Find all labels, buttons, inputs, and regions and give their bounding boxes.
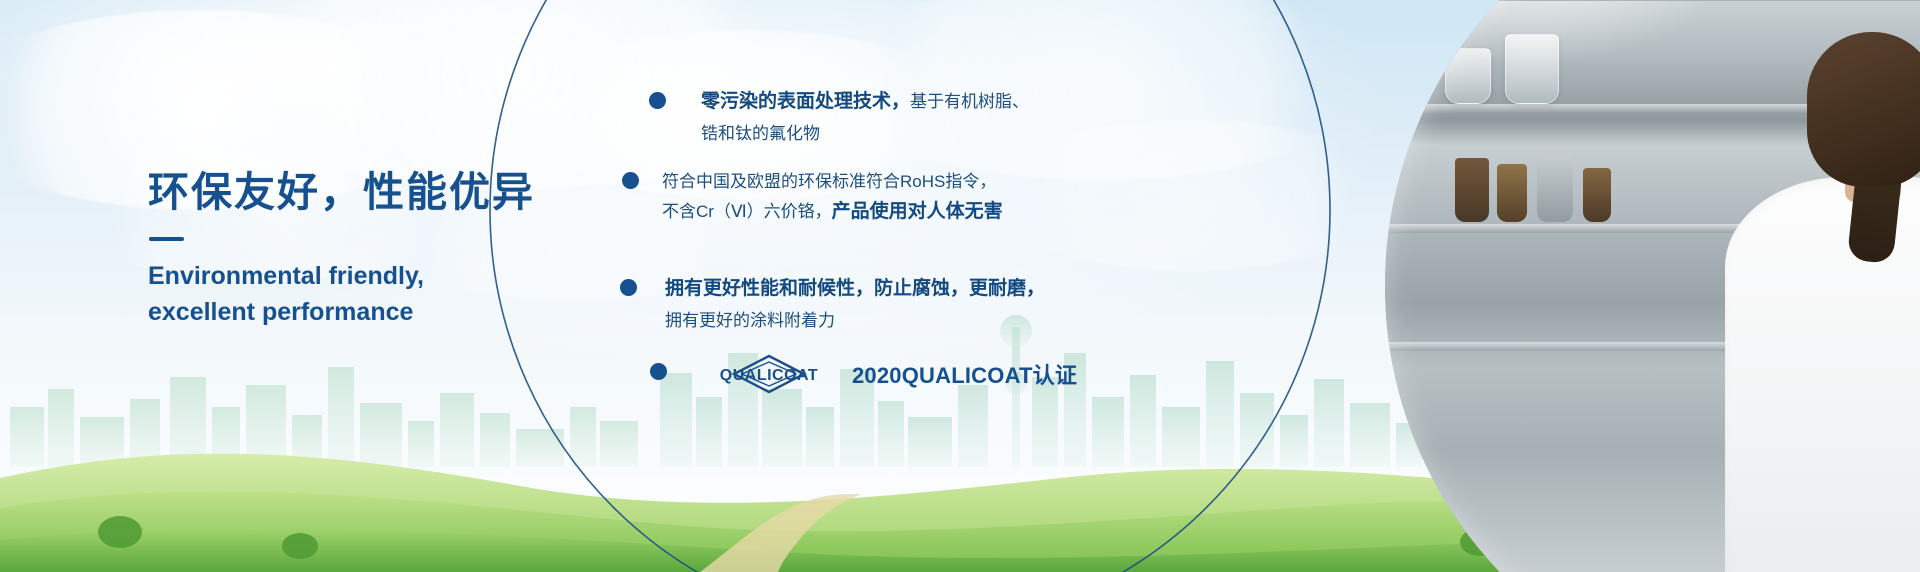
page-title: 环保友好，性能优异 [148,158,535,218]
foreground-blur [1385,450,1920,572]
title-divider [149,237,184,241]
bullet-dot-3 [620,279,637,296]
laboratory-photo [1385,0,1920,572]
feature-item-2: 符合中国及欧盟的环保标准符合RoHS指令， 不含Cr（Ⅵ）六价铬，产品使用对人体… [662,167,1062,229]
feature-item-1: 零污染的表面处理技术，基于有机树脂、 锆和钛的氟化物 [701,86,1081,148]
feature-3-bold: 拥有更好性能和耐候性，防止腐蚀，更耐磨， [665,273,1085,306]
reagent-bottle [1537,154,1573,222]
feature-3-line-2: 拥有更好的涂料附着力 [665,306,1085,335]
bullet-dot-4 [650,363,667,380]
feature-2-bold: 产品使用对人体无害 [832,201,1003,222]
reagent-bottle [1455,158,1489,222]
svg-text:QUALICOAT: QUALICOAT [720,367,818,384]
feature-1-line-2: 锆和钛的氟化物 [701,119,1081,148]
head [1807,32,1920,187]
subtitle-line-1: Environmental friendly, [148,258,424,294]
glassware [1505,34,1559,104]
promo-banner: 环保友好，性能优异 Environmental friendly, excell… [0,0,1920,572]
feature-item-3: 拥有更好性能和耐候性，防止腐蚀，更耐磨， 拥有更好的涂料附着力 [665,273,1085,335]
feature-1-bold: 零污染的表面处理技术， [701,91,910,112]
glassware [1445,48,1491,104]
reagent-bottle [1583,168,1611,222]
feature-2-normal: 不含Cr（Ⅵ）六价铬， [662,202,832,221]
subtitle-en: Environmental friendly, excellent perfor… [148,258,424,330]
certification-badge-row: QUALICOAT 2020QUALICOAT认证 [700,354,1077,394]
feature-2-line-1: 符合中国及欧盟的环保标准符合RoHS指令， [662,167,1062,196]
qualicoat-logo-icon: QUALICOAT [700,354,838,394]
certification-label: 2020QUALICOAT认证 [852,358,1077,390]
reagent-bottle [1497,164,1527,222]
bullet-dot-1 [649,92,666,109]
lab-photo-circle [1385,0,1920,572]
lab-photo-container [1100,0,1920,572]
subtitle-line-2: excellent performance [148,294,424,330]
bullet-dot-2 [622,172,639,189]
feature-1-normal: 基于有机树脂、 [910,92,1029,111]
feature-2-line-2: 不含Cr（Ⅵ）六价铬，产品使用对人体无害 [662,196,1062,229]
